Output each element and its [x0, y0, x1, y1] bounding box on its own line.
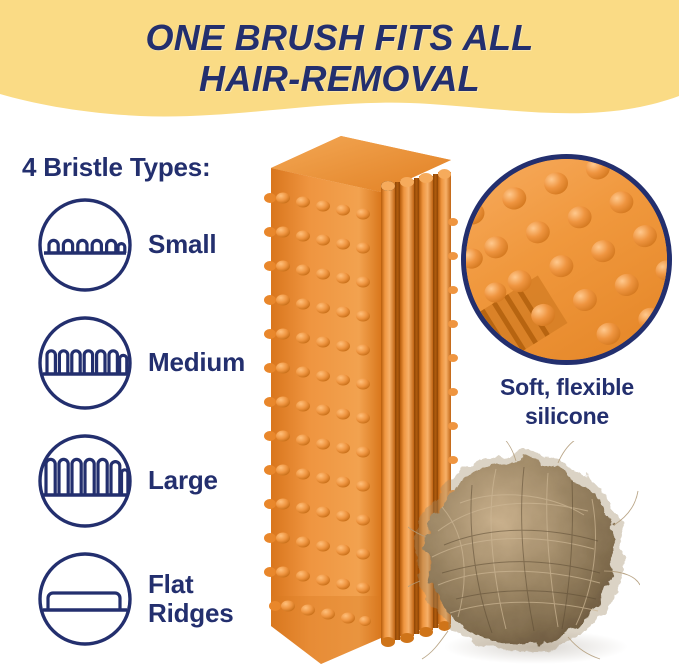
list-item: Large: [0, 432, 250, 550]
list-item: Small: [0, 196, 250, 314]
flat-ridge-icon: [36, 550, 134, 648]
bristle-types-list: Small Medium: [0, 196, 250, 668]
bristle-large-icon: [36, 432, 134, 530]
silicone-nub-texture: [466, 159, 667, 360]
bristle-type-label: Small: [148, 196, 216, 294]
bristle-type-label: Large: [148, 432, 218, 530]
hairball-illustration: [408, 441, 640, 667]
magnified-surface-callout: [461, 154, 672, 365]
bristle-type-label: Medium: [148, 314, 245, 412]
bristle-type-label: Flat Ridges: [148, 550, 233, 648]
bristle-medium-icon: [36, 314, 134, 412]
bristle-types-heading: 4 Bristle Types:: [22, 152, 211, 183]
hair-clump-image: [408, 441, 640, 667]
header-banner: ONE BRUSH FITS ALL HAIR-REMOVAL: [0, 0, 679, 128]
bristle-small-icon: [36, 196, 134, 294]
list-item: Medium: [0, 314, 250, 432]
list-item: Flat Ridges: [0, 550, 250, 668]
page-title: ONE BRUSH FITS ALL HAIR-REMOVAL: [0, 17, 679, 99]
magnifier-caption: Soft, flexible silicone: [455, 373, 679, 432]
